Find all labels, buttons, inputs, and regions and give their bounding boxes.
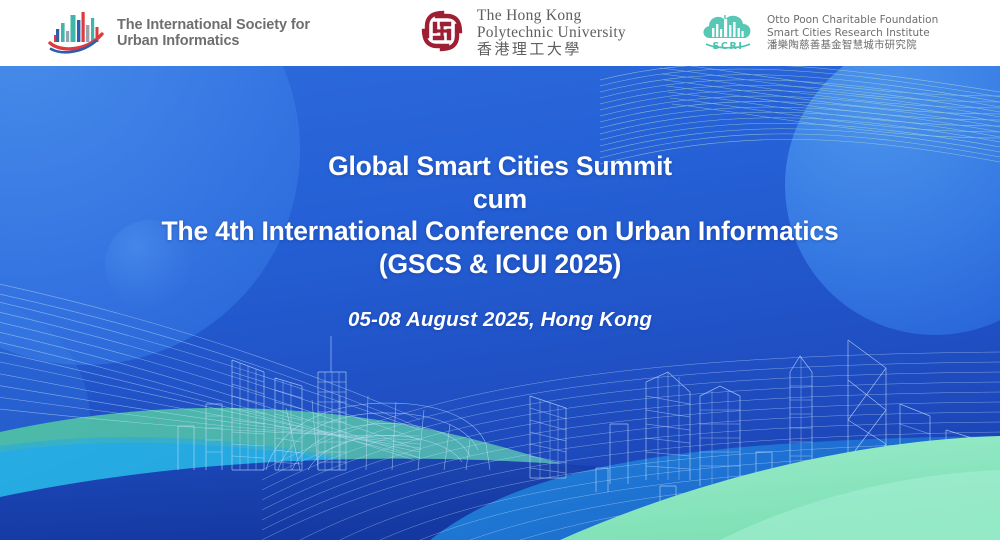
polyu-line-1: The Hong Kong [477,8,626,25]
isui-line-2: Urban Informatics [117,33,310,49]
logo-hong-kong-polytechnic-university: The Hong Kong Polytechnic University 香港理… [416,5,626,62]
scri-wordmark: Otto Poon Charitable Foundation Smart Ci… [767,14,938,51]
polyu-line-3-chinese: 香港理工大學 [477,41,626,58]
conference-banner: The International Society for Urban Info… [0,0,1000,540]
isui-wordmark: The International Society for Urban Info… [117,17,310,49]
scri-skyline-cloud-icon: SCRI [698,8,758,59]
logo-strip: The International Society for Urban Info… [0,0,1000,66]
title-line-4: (GSCS & ICUI 2025) [0,248,1000,281]
title-line-1: Global Smart Cities Summit [0,150,1000,183]
scri-line-2: Smart Cities Research Institute [767,27,938,39]
title-line-2: cum [0,183,1000,216]
logo-smart-cities-research-institute: SCRI Otto Poon Charitable Foundation Sma… [698,8,938,59]
polyu-knot-emblem-icon [416,5,468,62]
isui-line-1: The International Society for [117,17,310,33]
city-skyline-swoosh-icon [46,7,108,60]
scri-line-1: Otto Poon Charitable Foundation [767,14,938,26]
scri-line-3-chinese: 潘樂陶慈善基金智慧城市研究院 [767,39,938,51]
polyu-line-2: Polytechnic University [477,25,626,42]
event-date-location: 05-08 August 2025, Hong Kong [0,307,1000,332]
banner-title-block: Global Smart Cities Summit cum The 4th I… [0,150,1000,332]
logo-international-society-for-urban-informatics: The International Society for Urban Info… [46,7,310,60]
polyu-wordmark: The Hong Kong Polytechnic University 香港理… [477,8,626,58]
title-line-3: The 4th International Conference on Urba… [0,215,1000,248]
scri-mark-label: SCRI [712,41,743,52]
